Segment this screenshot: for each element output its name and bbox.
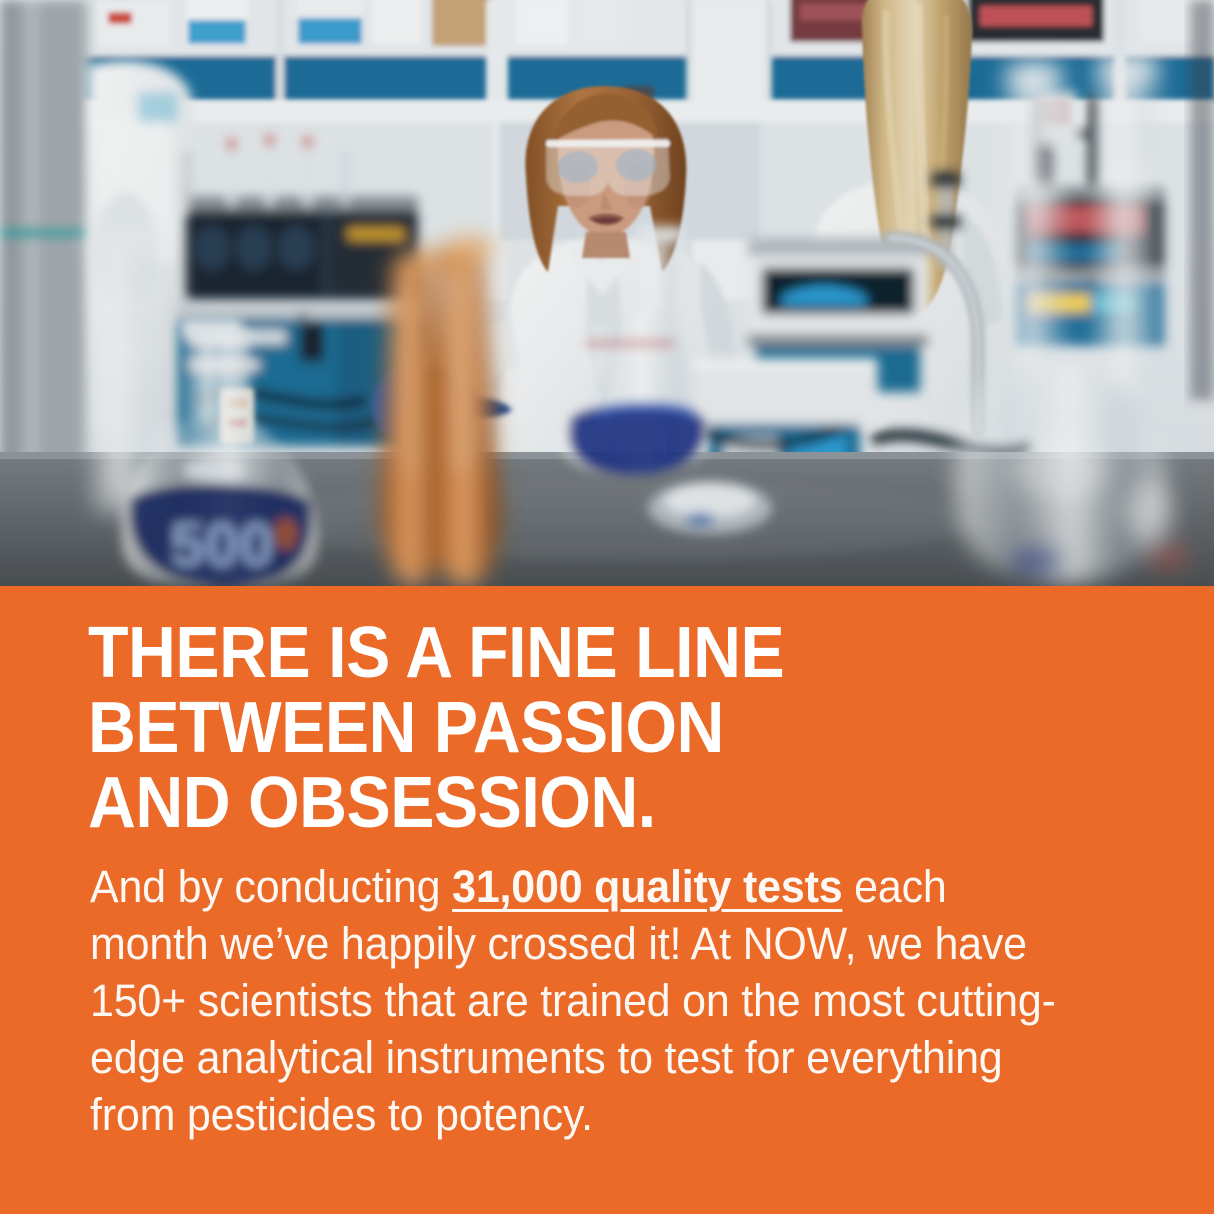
page-headline: There is a fine line between passion and… xyxy=(88,616,1054,841)
laboratory-photo: 500 xyxy=(0,0,1214,586)
body-copy-part-1: And by conducting xyxy=(90,861,452,912)
body-copy: And by conducting 31,000 quality tests e… xyxy=(90,858,1074,1143)
laboratory-photo-illustration: 500 xyxy=(0,0,1214,586)
marketing-poster: 500 xyxy=(0,0,1214,1214)
orange-message-panel: There is a fine line between passion and… xyxy=(0,586,1214,1214)
quality-tests-highlight: 31,000 quality tests xyxy=(452,861,842,912)
